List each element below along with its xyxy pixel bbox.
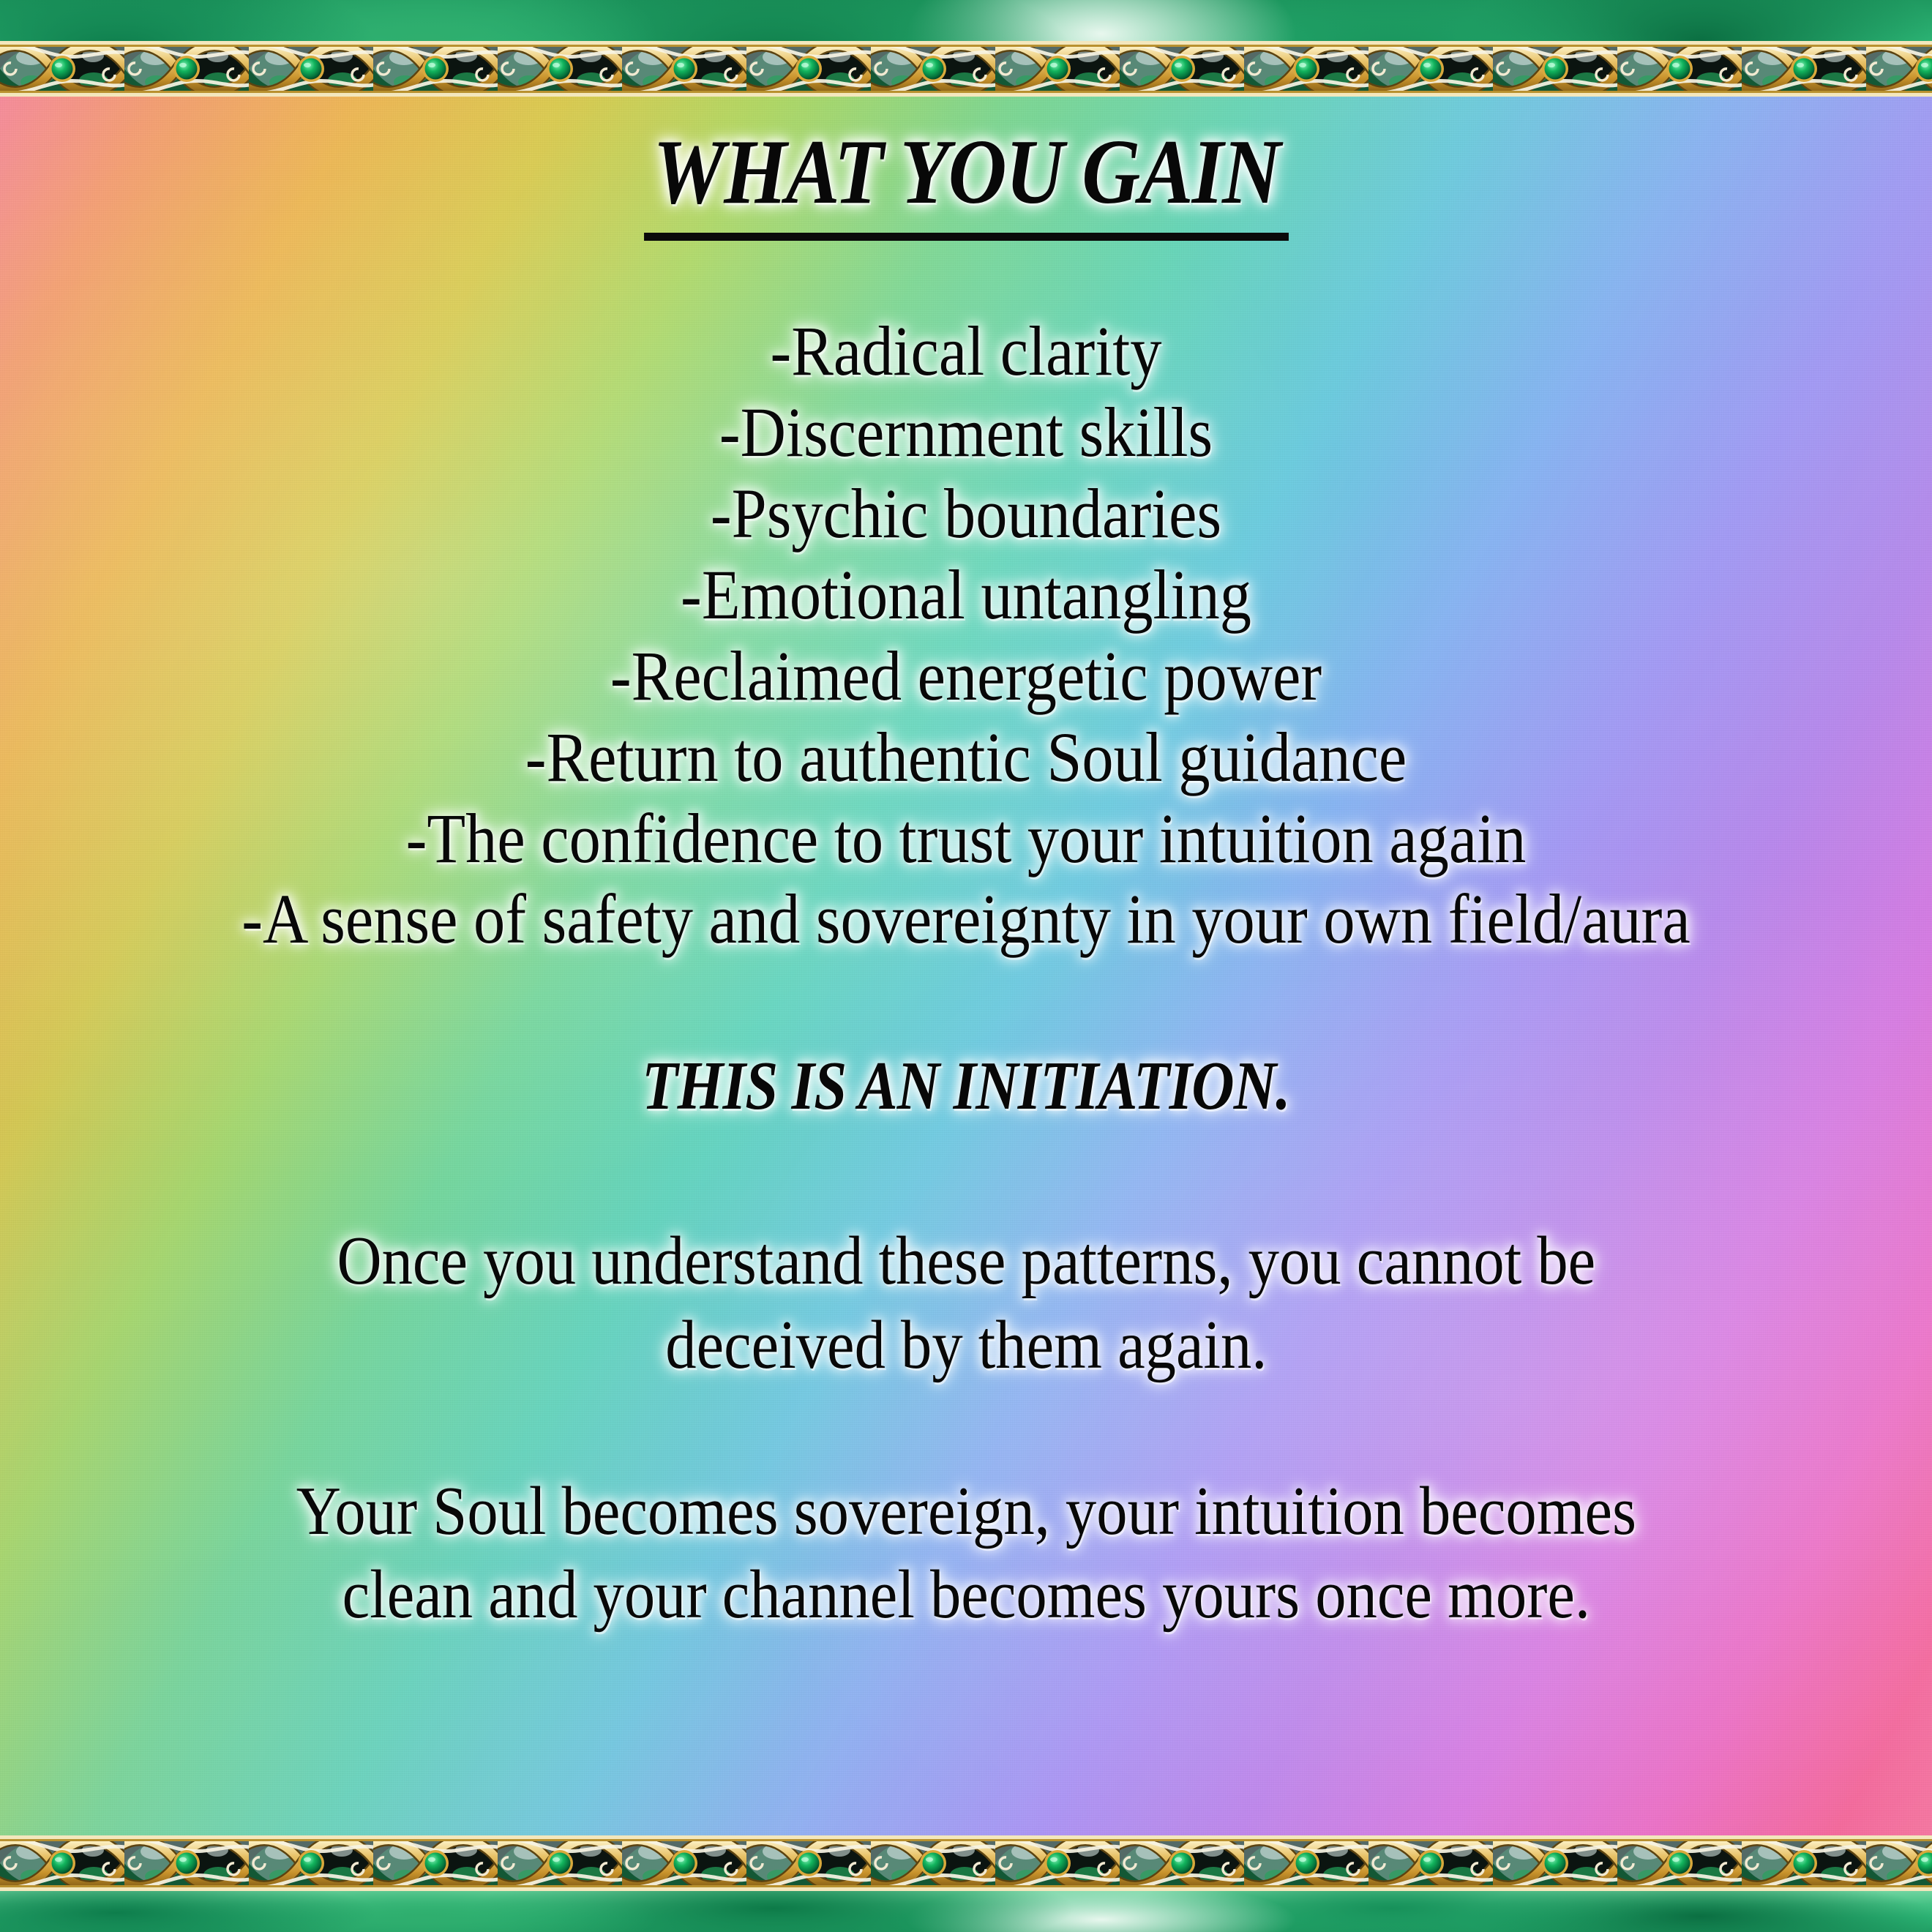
poster: WHAT YOU GAIN -Radical clarity -Discernm… <box>0 0 1932 1932</box>
top-celtic-border <box>0 0 1932 97</box>
paragraph-two-line-1: Your Soul becomes sovereign, your intuit… <box>296 1469 1636 1554</box>
paragraph-two: Your Soul becomes sovereign, your intuit… <box>296 1469 1636 1637</box>
bottom-green-watercolor-wash <box>0 1891 1932 1932</box>
page-title: WHAT YOU GAIN <box>644 124 1289 241</box>
top-celtic-knotwork-icon <box>0 41 1932 97</box>
bottom-celtic-knotwork-icon <box>0 1835 1932 1891</box>
list-item: -The confidence to trust your intuition … <box>97 798 1835 880</box>
list-item: -Return to authentic Soul guidance <box>97 717 1835 798</box>
list-item: -Reclaimed energetic power <box>97 636 1835 717</box>
paragraph-one: Once you understand these patterns, you … <box>337 1219 1595 1387</box>
paragraph-one-line-1: Once you understand these patterns, you … <box>337 1219 1595 1303</box>
initiation-statement: THIS IS AN INITIATION. <box>642 1046 1290 1126</box>
list-item: -Emotional untangling <box>97 555 1835 636</box>
paragraph-two-line-2: clean and your channel becomes yours onc… <box>296 1553 1636 1637</box>
list-item: -Radical clarity <box>97 311 1835 392</box>
paragraph-one-line-2: deceived by them again. <box>337 1303 1595 1388</box>
list-item: -Psychic boundaries <box>97 473 1835 555</box>
bottom-celtic-border <box>0 1835 1932 1932</box>
gain-list: -Radical clarity -Discernment skills -Ps… <box>0 311 1932 960</box>
list-item: -A sense of safety and sovereignty in yo… <box>97 879 1835 960</box>
list-item: -Discernment skills <box>97 392 1835 473</box>
poster-content: WHAT YOU GAIN -Radical clarity -Discernm… <box>0 97 1932 1835</box>
